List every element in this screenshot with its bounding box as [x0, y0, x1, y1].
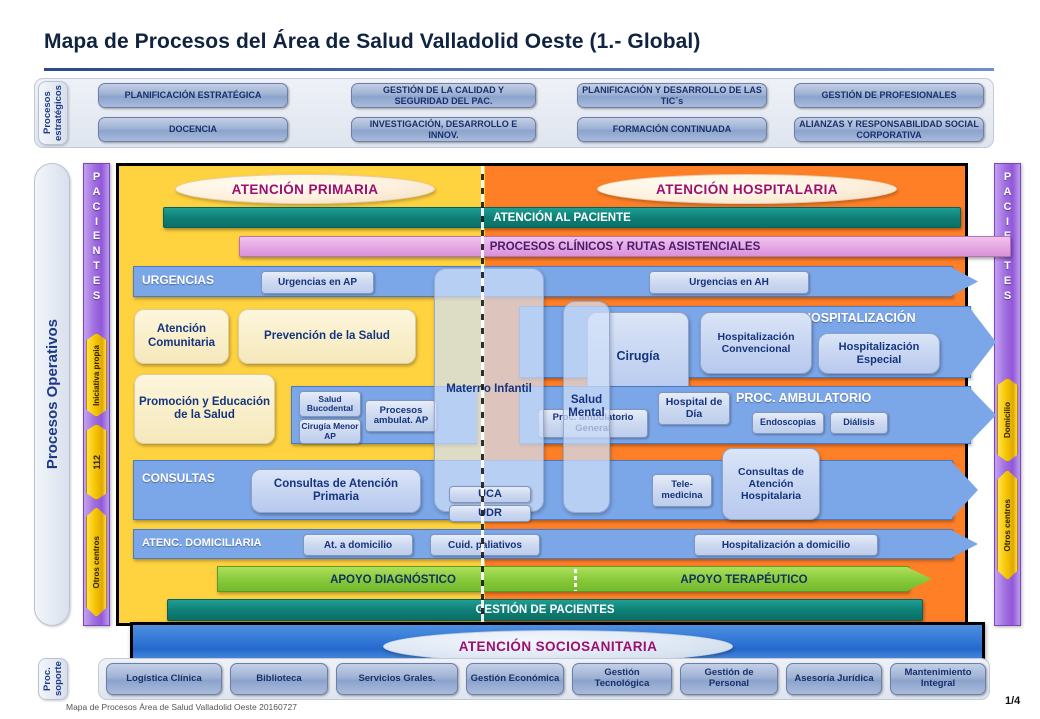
box-salud-bucodental[interactable]: Salud Bucodental [299, 391, 361, 417]
box-udr[interactable]: UDR [449, 505, 531, 522]
band-atencion-al-paciente[interactable]: ATENCIÓN AL PACIENTE [163, 207, 961, 228]
band-apoyo-diagnostico-label[interactable]: APOYO DIAGNÓSTICO [218, 567, 568, 593]
strategic-box-planificacion-tic[interactable]: PLANIFICACIÓN Y DESARROLLO DE LAS TIC´s [577, 83, 767, 108]
entry-arrow-iniciativa-propia[interactable]: Iniciativa propia [86, 333, 107, 417]
box-promocion-educacion-salud[interactable]: Promoción y Educación de la Salud [134, 374, 275, 444]
page-title: Mapa de Procesos del Área de Salud Valla… [44, 30, 994, 64]
overlay-box-salud-mental[interactable]: Salud Mental [563, 301, 610, 513]
support-box-logistica-clinica[interactable]: Logística Clínica [106, 663, 222, 695]
strategic-box-investigacion[interactable]: INVESTIGACIÓN, DESARROLLO E INNOV. [351, 117, 536, 142]
page-number: 1/4 [1005, 695, 1020, 707]
title-divider [44, 68, 994, 71]
row-atencion-domiciliaria-label: ATENC. DOMICILIARIA [142, 537, 262, 549]
band-apoyo-separator [574, 569, 577, 591]
zone-divider [481, 166, 484, 623]
row-consultas-label: CONSULTAS [142, 471, 215, 485]
box-endoscopias[interactable]: Endoscopias [752, 412, 824, 434]
box-procesos-ambulat-ap[interactable]: Procesos ambulat. AP [365, 400, 437, 432]
patients-left-letters: PACIENTES [83, 170, 110, 304]
footer-note: Mapa de Procesos Área de Salud Valladoli… [66, 702, 297, 712]
entry-arrow-112[interactable]: 112 [86, 424, 107, 500]
support-box-gestion-tecnologica[interactable]: Gestión Tecnológica [572, 663, 672, 695]
band-procesos-clinicos[interactable]: PROCESOS CLÍNICOS Y RUTAS ASISTENCIALES [239, 236, 1011, 257]
entry-arrow-otros-centros-left-text: Otros centros [92, 536, 101, 588]
entry-arrow-112-text: 112 [92, 455, 102, 470]
support-processes-label: Proc. soporte [38, 658, 68, 700]
box-hospitalizacion-a-domicilio[interactable]: Hospitalización a domicilio [694, 534, 878, 556]
overlay-box-materno-infantil[interactable]: Materno Infantil [434, 268, 544, 512]
strategic-box-docencia[interactable]: DOCENCIA [98, 117, 288, 142]
exit-arrow-otros-centros-right[interactable]: Otros centros [997, 470, 1018, 580]
operative-processes-label: Procesos Operativos [34, 163, 70, 626]
strategic-box-gestion-calidad[interactable]: GESTIÓN DE LA CALIDAD Y SEGURIDAD DEL PA… [351, 83, 536, 108]
box-cirugia-menor-ap[interactable]: Cirugía Menor AP [299, 419, 361, 444]
box-hospitalizacion-especial[interactable]: Hospitalización Especial [818, 333, 940, 374]
operative-processes-label-text: Procesos Operativos [44, 319, 61, 469]
row-proc-ambulatorio-label: PROC. AMBULATORIO [736, 391, 871, 405]
box-hospital-de-dia[interactable]: Hospital de Día [658, 392, 730, 425]
strategic-processes-label: Procesos estratégicos [38, 81, 68, 145]
support-box-mantenimiento-integral[interactable]: Mantenimiento Integral [890, 663, 986, 695]
band-apoyo: APOYO DIAGNÓSTICO APOYO TERAPÉUTICO [217, 566, 909, 592]
zone-title-atencion-hospitalaria: ATENCIÓN HOSPITALARIA [597, 174, 897, 204]
zone-title-atencion-primaria: ATENCIÓN PRIMARIA [175, 174, 435, 204]
exit-arrow-domicilio[interactable]: Domicilio [997, 378, 1018, 462]
box-at-a-domicilio[interactable]: At. a domicilio [303, 534, 413, 556]
support-box-gestion-economica[interactable]: Gestión Económica [466, 663, 564, 695]
box-atencion-comunitaria[interactable]: Atención Comunitaria [134, 309, 229, 364]
row-urgencias-label: URGENCIAS [142, 273, 214, 287]
strategic-box-formacion-continuada[interactable]: FORMACIÓN CONTINUADA [577, 117, 767, 142]
box-urgencias-en-ah[interactable]: Urgencias en AH [649, 271, 809, 294]
box-telemedicina[interactable]: Tele- medicina [652, 474, 712, 507]
strategic-processes-label-text: Procesos estratégicos [42, 82, 64, 144]
operative-processes-frame: ATENCIÓN PRIMARIA ATENCIÓN HOSPITALARIA … [116, 163, 968, 626]
box-prevencion-de-la-salud[interactable]: Prevención de la Salud [238, 309, 416, 364]
box-consultas-atencion-hospitalaria[interactable]: Consultas de Atención Hospitalaria [722, 448, 820, 520]
exit-arrow-domicilio-text: Domicilio [1003, 402, 1012, 438]
box-dialisis[interactable]: Diálisis [830, 412, 888, 434]
row-proc-ambulatorio-arrowhead [969, 387, 996, 443]
support-box-asesoria-juridica[interactable]: Asesoría Jurídica [786, 663, 882, 695]
row-hospitalizacion-arrowhead [969, 307, 996, 377]
support-box-gestion-de-personal[interactable]: Gestión de Personal [680, 663, 778, 695]
row-hospitalizacion-label: HOSPITALIZACIÓN [802, 311, 916, 325]
box-uca[interactable]: UCA [449, 486, 531, 503]
entry-arrow-otros-centros-left[interactable]: Otros centros [86, 507, 107, 617]
exit-arrow-otros-centros-right-text: Otros centros [1003, 499, 1012, 551]
entry-arrow-iniciativa-propia-text: Iniciativa propia [92, 345, 101, 406]
strategic-box-planificacion-estrategica[interactable]: PLANIFICACIÓN ESTRATÉGICA [98, 83, 288, 108]
support-box-biblioteca[interactable]: Biblioteca [230, 663, 328, 695]
patients-left-letters-text: PACIENTES [83, 170, 110, 304]
box-urgencias-en-ap[interactable]: Urgencias en AP [261, 271, 374, 294]
strategic-box-gestion-profesionales[interactable]: GESTIÓN DE PROFESIONALES [794, 83, 984, 108]
band-gestion-de-pacientes[interactable]: GESTIÓN DE PACIENTES [167, 599, 923, 621]
support-processes-label-text: Proc. soporte [42, 659, 64, 699]
row-atencion-domiciliaria: ATENC. DOMICILIARIA At. a domicilio Cuid… [133, 529, 953, 559]
box-consultas-atencion-primaria[interactable]: Consultas de Atención Primaria [251, 469, 421, 513]
box-hospitalizacion-convencional[interactable]: Hospitalización Convencional [700, 312, 812, 374]
support-box-servicios-grales[interactable]: Servicios Grales. [336, 663, 458, 695]
band-apoyo-terapeutico-label[interactable]: APOYO TERAPÉUTICO [580, 567, 908, 593]
box-cuid-paliativos[interactable]: Cuid. paliativos [430, 534, 540, 556]
strategic-box-alianzas[interactable]: ALIANZAS Y RESPONSABILIDAD SOCIAL CORPOR… [794, 117, 984, 142]
